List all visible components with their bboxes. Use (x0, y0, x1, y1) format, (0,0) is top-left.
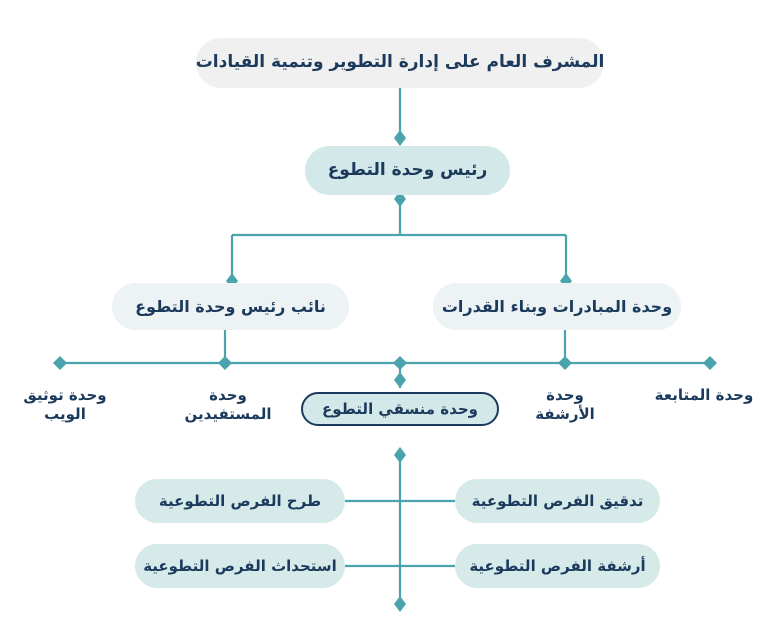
task-create-volunteer-opportunities[interactable]: استحداث الفرص التطوعية (135, 544, 345, 588)
diamond-bus-3 (393, 356, 407, 370)
diamond-spine-top (394, 447, 406, 463)
task-archive-volunteer-opportunities[interactable]: أرشفة الفرص التطوعية (455, 544, 660, 588)
leaf-beneficiaries-unit-line1: وحدة (165, 386, 291, 405)
diamond-bus-5 (703, 356, 717, 370)
task-audit-volunteer-opportunities[interactable]: تدقيق الفرص التطوعية (455, 479, 660, 523)
node-general-supervisor[interactable]: المشرف العام على إدارة التطوير وتنمية ال… (196, 38, 604, 88)
node-deputy-volunteer-unit-head[interactable]: نائب رئيس وحدة التطوع (112, 283, 349, 330)
leaf-archiving-unit[interactable]: وحدة الأرشفة (505, 386, 625, 424)
node-initiatives-capacity-building-unit[interactable]: وحدة المبادرات وبناء القدرات (433, 283, 681, 330)
leaf-archiving-unit-line1: وحدة (505, 386, 625, 405)
arrow-head-level2 (394, 130, 406, 146)
leaf-web-documentation-unit-line2: الويب (0, 405, 130, 424)
leaf-volunteer-coordinators-unit[interactable]: وحدة منسقي التطوع (301, 392, 499, 426)
leaf-web-documentation-unit-line1: وحدة توثيق (0, 386, 130, 405)
leaf-beneficiaries-unit[interactable]: وحدة المستفيدين (165, 386, 291, 424)
leaf-beneficiaries-unit-line2: المستفيدين (165, 405, 291, 424)
leaf-follow-up-unit[interactable]: وحدة المتابعة (640, 386, 768, 405)
diamond-bus-1 (53, 356, 67, 370)
diamond-bus-2 (218, 356, 232, 370)
leaf-web-documentation-unit[interactable]: وحدة توثيق الويب (0, 386, 130, 424)
org-chart-canvas: المشرف العام على إدارة التطوير وتنمية ال… (0, 0, 768, 638)
diamond-spine-bottom (394, 596, 406, 612)
arrow-coordinators (394, 372, 406, 388)
leaf-archiving-unit-line2: الأرشفة (505, 405, 625, 424)
task-publish-volunteer-opportunities[interactable]: طرح الفرص التطوعية (135, 479, 345, 523)
node-volunteer-unit-head[interactable]: رئيس وحدة التطوع (305, 146, 510, 195)
diamond-bus-4 (558, 356, 572, 370)
leaf-follow-up-unit-line1: وحدة المتابعة (640, 386, 768, 405)
